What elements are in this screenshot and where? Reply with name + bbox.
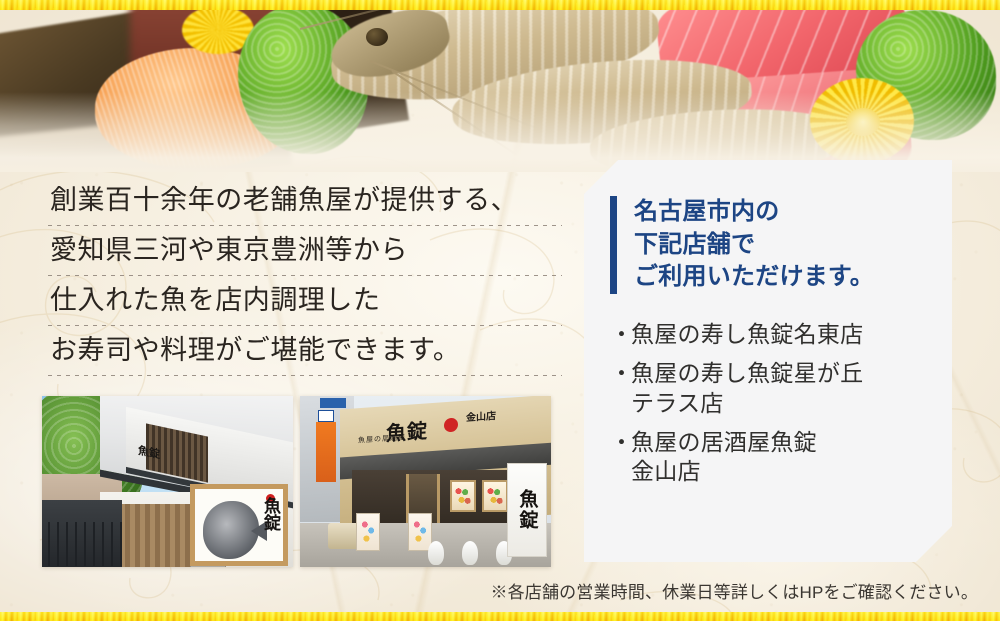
- white-sake-bottle: [462, 541, 478, 565]
- hero-food-banner: [0, 0, 1000, 172]
- store-name-line: テラス店: [631, 389, 934, 419]
- facade-branch-name: 金山店: [466, 407, 496, 424]
- store-name-line: 魚屋の寿し魚錠名東店: [631, 320, 934, 350]
- panel-title-line-1: 名古屋市内の: [634, 196, 874, 229]
- shrimp-eye: [366, 28, 388, 46]
- storefront-photo-meito: 魚錠 魚錠: [42, 396, 293, 567]
- porch-railing: [48, 522, 122, 566]
- promo-poster: 創業百十余年の老舗魚屋が提供する、 愛知県三河や東京豊洲等から 仕入れた魚を店内…: [0, 0, 1000, 621]
- intro-line-4: お寿司や料理がご堪能できます。: [48, 326, 558, 376]
- panel-title-line-3: ご利用いただけます。: [634, 261, 874, 294]
- menu-window: [482, 480, 508, 512]
- flounder-signboard: 魚錠: [190, 484, 288, 566]
- store-name-line: 魚屋の寿し魚錠星が丘: [631, 359, 934, 389]
- gold-band-top: [0, 0, 1000, 10]
- footnote-text: ※各店舗の営業時間、休業日等詳しくはHPをご確認ください。: [490, 578, 978, 603]
- store-info-panel: 名古屋市内の 下記店舗で ご利用いただけます。 魚屋の寿し魚錠名東店 魚屋の寿し…: [584, 160, 952, 562]
- list-item: 魚屋の居酒屋魚錠 金山店: [614, 428, 934, 488]
- intro-line-2: 愛知県三河や東京豊洲等から: [48, 226, 558, 276]
- panel-title: 名古屋市内の 下記店舗で ご利用いただけます。: [634, 196, 874, 294]
- menu-window: [450, 480, 476, 512]
- store-name-line: 魚屋の居酒屋魚錠: [631, 428, 934, 458]
- blue-street-sign: [320, 398, 346, 408]
- post-office-icon: [318, 410, 334, 422]
- standing-signboard: 魚錠: [507, 463, 547, 557]
- gold-band-bottom: [0, 612, 1000, 621]
- standing-signboard-text: 魚錠: [514, 489, 541, 531]
- flounder-illustration: [203, 501, 259, 559]
- panel-title-line-2: 下記店舗で: [634, 229, 874, 262]
- intro-line-1: 創業百十余年の老舗魚屋が提供する、: [48, 176, 558, 226]
- store-name-line: 金山店: [631, 457, 934, 487]
- white-sake-bottle: [428, 541, 444, 565]
- list-item: 魚屋の寿し魚錠星が丘 テラス店: [614, 359, 934, 419]
- accent-bar: [610, 196, 617, 294]
- storefront-photo-gallery: 魚錠 魚錠 魚屋の居酒屋 魚錠 金山店: [42, 396, 551, 567]
- orange-banner: [316, 422, 336, 482]
- panel-heading: 名古屋市内の 下記店舗で ご利用いただけます。: [584, 160, 952, 294]
- sake-barrel: [328, 523, 358, 549]
- store-list: 魚屋の寿し魚錠名東店 魚屋の寿し魚錠星が丘 テラス店 魚屋の居酒屋魚錠 金山店: [584, 320, 952, 487]
- intro-line-3: 仕入れた魚を店内調理した: [48, 276, 558, 326]
- signboard-shop-name: 魚錠: [262, 497, 278, 531]
- storefront-photo-kanayama: 魚屋の居酒屋 魚錠 金山店 魚錠: [300, 396, 551, 567]
- facade-shop-name: 魚錠: [386, 415, 428, 447]
- a-frame-sign: [356, 513, 380, 551]
- list-item: 魚屋の寿し魚錠名東店: [614, 320, 934, 350]
- intro-copy: 創業百十余年の老舗魚屋が提供する、 愛知県三河や東京豊洲等から 仕入れた魚を店内…: [48, 176, 558, 376]
